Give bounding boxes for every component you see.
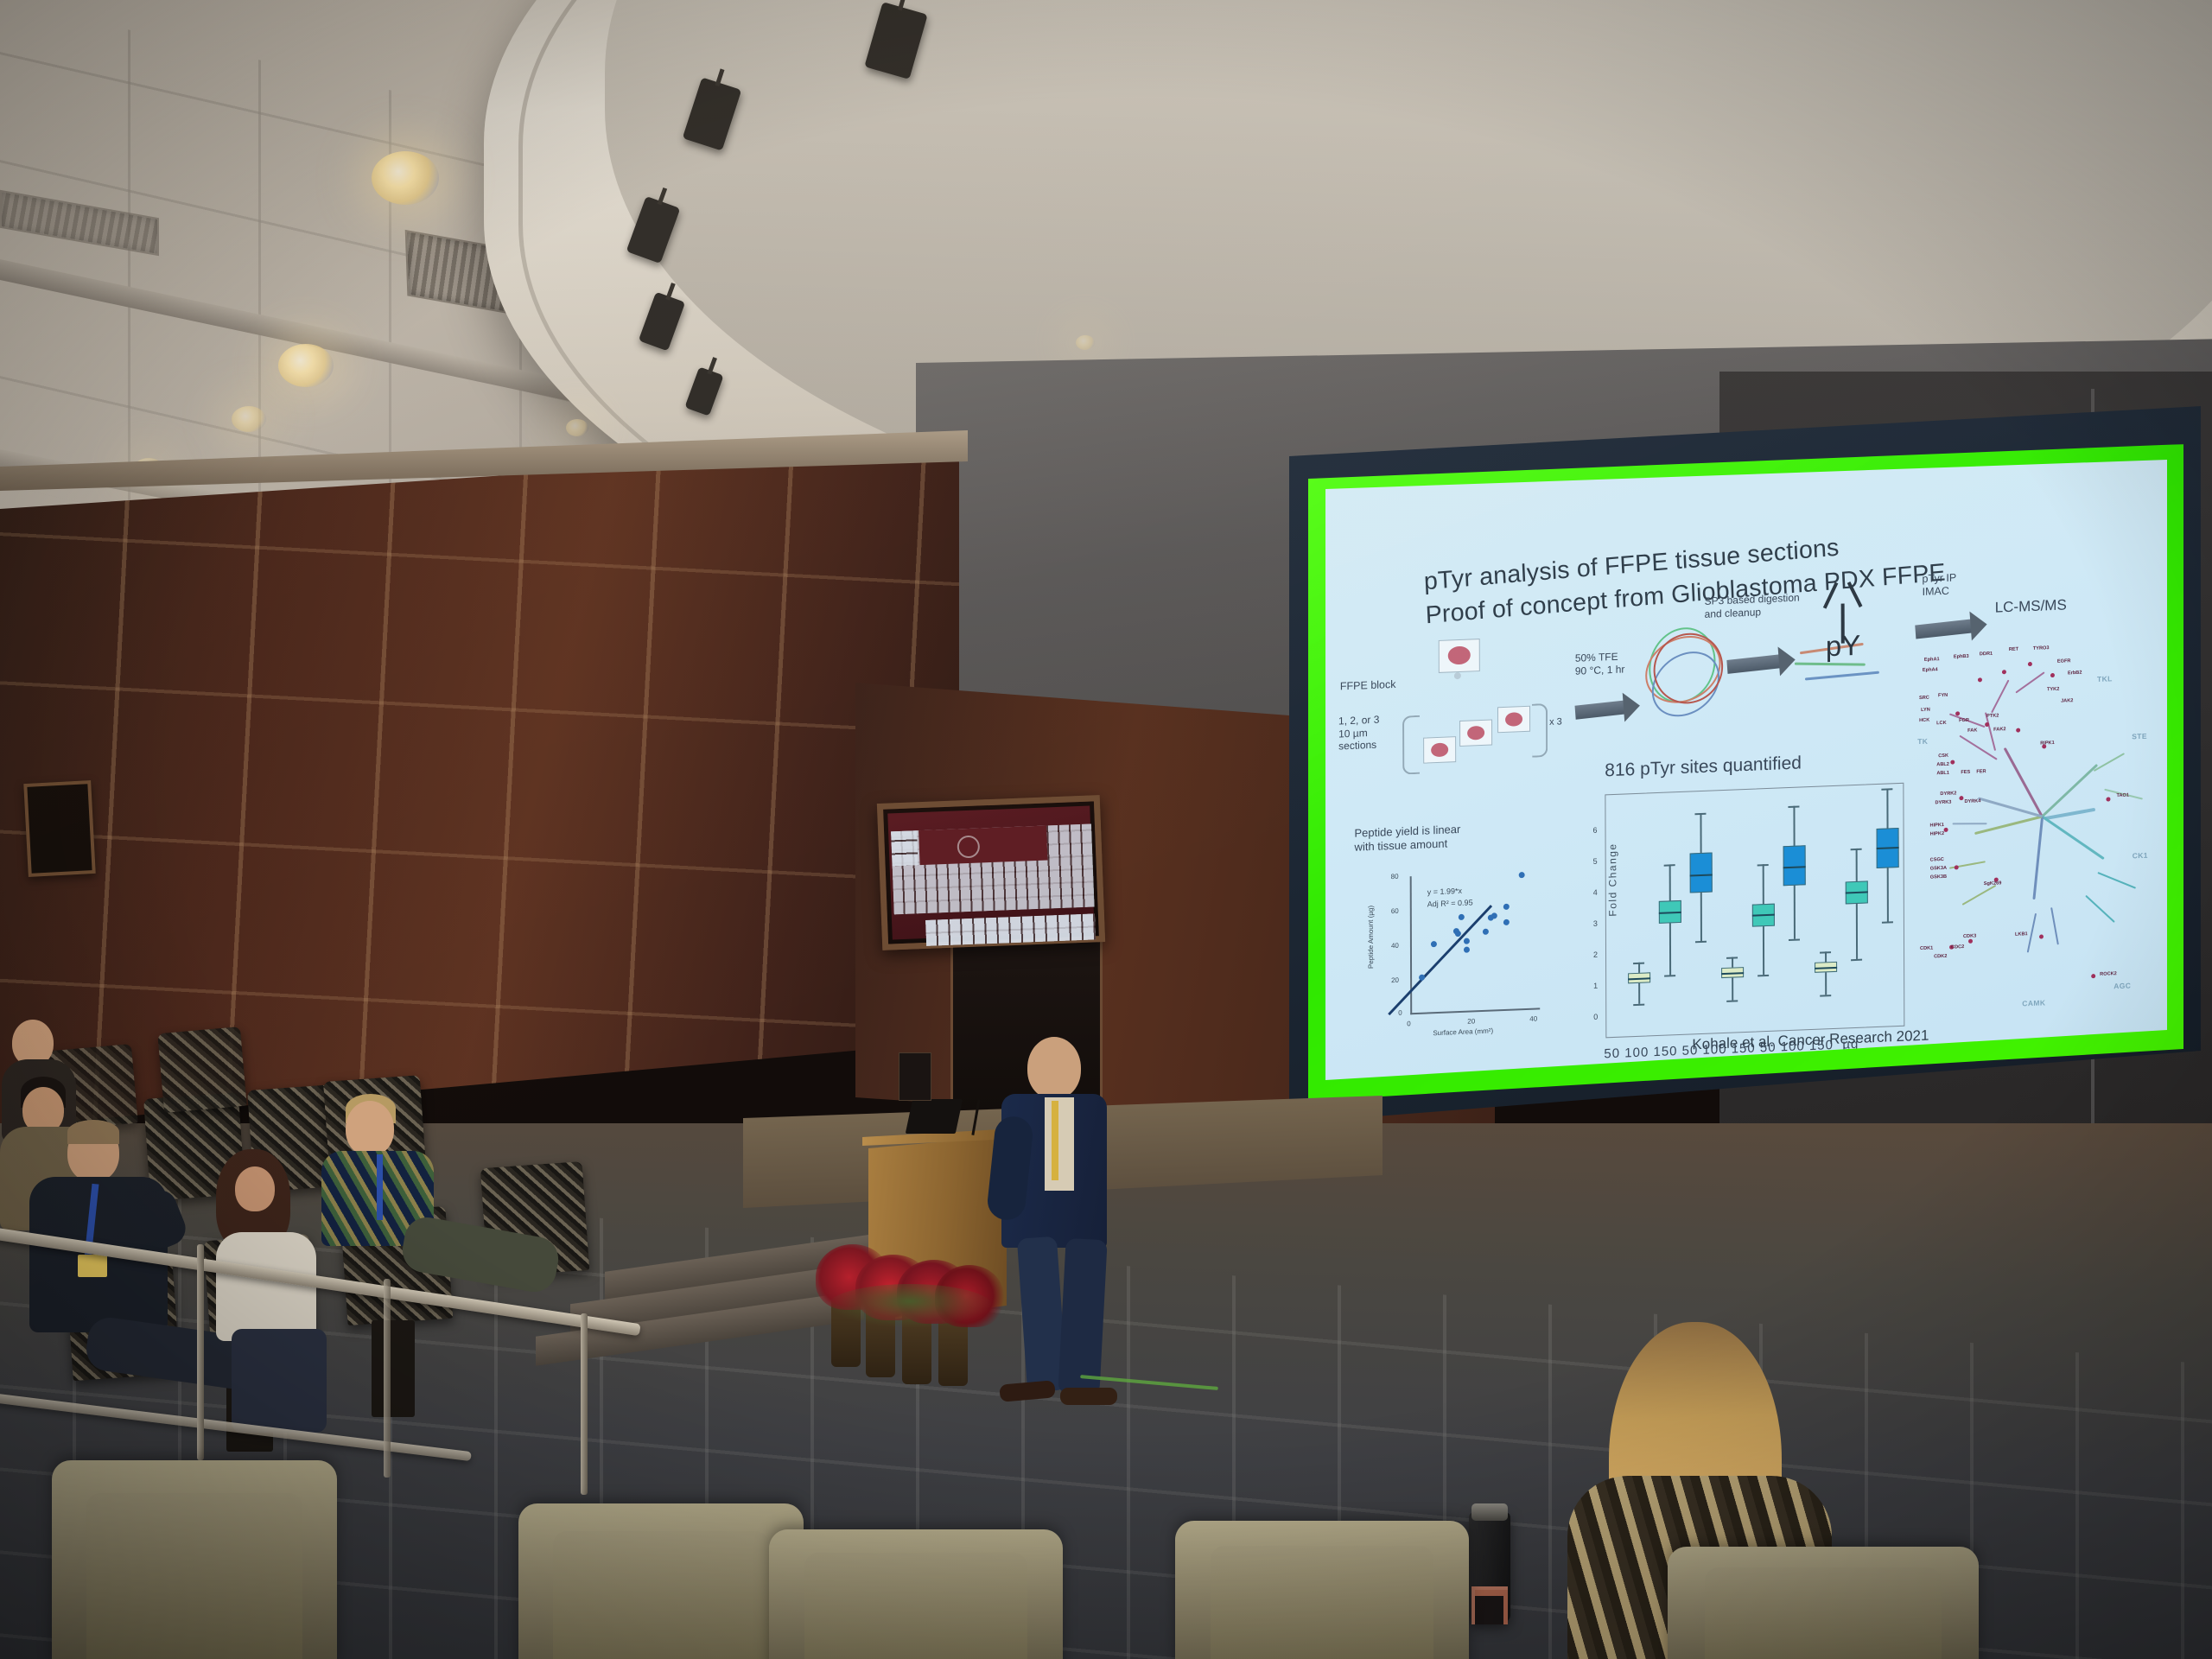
leg	[232, 1329, 327, 1433]
tissue-section-icon-2	[1459, 719, 1492, 746]
kinome-label: DYRK3	[1935, 800, 1951, 806]
foreground-chair[interactable]	[1175, 1521, 1469, 1659]
kinome-label: EphB3	[1954, 654, 1969, 660]
kinome-label: EphA1	[1924, 657, 1940, 663]
scatter-xtick-0: 0	[1407, 1020, 1410, 1027]
scatter-point	[1419, 975, 1425, 981]
boxplot-ytick-4: 4	[1593, 888, 1598, 897]
kinome-group-label-TK: TK	[1917, 737, 1928, 746]
scatter-point	[1464, 947, 1470, 953]
foreground-chair[interactable]	[52, 1460, 337, 1659]
scatter-point	[1483, 929, 1489, 935]
kinome-subbranch	[2097, 872, 2136, 889]
kinome-label: RET	[2009, 647, 2018, 652]
kinome-subbranch	[1991, 680, 2010, 714]
kinome-label: CDK1	[1920, 945, 1933, 951]
kinome-tree-figure: EphA1 EphA4 EphB3 DDR1 RET TYRO3 EGFR Er…	[1912, 622, 2173, 1013]
workflow-multiplier-label: x 3	[1549, 716, 1562, 728]
kinome-label: FYN	[1938, 693, 1948, 698]
boxplot-whisker	[1825, 951, 1827, 995]
scatter-caption: Peptide yield is linear with tissue amou…	[1354, 823, 1460, 855]
periodic-table-lanthanide-block	[925, 913, 1096, 946]
projection-screen: pTyr analysis of FFPE tissue sections Pr…	[1272, 406, 2212, 1123]
scatter-point	[1431, 941, 1437, 947]
kinome-group-label-AGC: AGC	[2113, 981, 2131, 990]
foreground-chair-inner	[804, 1553, 1027, 1659]
workflow-arrow-1-icon	[1575, 700, 1626, 719]
kinome-node	[1950, 760, 1955, 764]
boxplot-heading: 816 pTyr sites quantified	[1605, 752, 1802, 782]
scatter-point	[1491, 912, 1497, 918]
wall-artwork-frame	[23, 780, 96, 877]
kinome-branch	[2032, 817, 2044, 899]
scatter-x-axis	[1410, 1007, 1540, 1014]
kinome-label: ROCK2	[2100, 971, 2117, 977]
scatter-fit-line	[1388, 905, 1492, 1015]
kinome-subbranch	[2085, 895, 2115, 923]
kinome-label: GSK3B	[1930, 874, 1947, 880]
workflow-lcmsms-label: LC-MS/MS	[1995, 596, 2067, 617]
workflow-arrow-2-icon	[1726, 654, 1781, 674]
presenter-shirt	[1045, 1097, 1074, 1191]
kinome-node	[2039, 934, 2044, 938]
kinome-label: EphA4	[1923, 667, 1938, 673]
workflow-ip-imac-label: pTyr IP IMAC	[1923, 571, 1957, 599]
scatter-r2-annotation: Adj R² = 0.95	[1427, 898, 1473, 908]
recessed-downlight-1	[372, 151, 439, 205]
scatter-ylabel: Peptide Amount (µg)	[1367, 906, 1375, 969]
head	[235, 1166, 275, 1211]
scatter-point	[1503, 919, 1510, 925]
kinome-label: FAK	[1967, 728, 1977, 733]
recessed-downlight-5	[566, 419, 588, 436]
scatter-xtick-40: 40	[1529, 1014, 1537, 1022]
peptide-yield-scatter-chart: 80 60 40 20 0 0 20 40 Peptide Amount (µg…	[1377, 864, 1558, 1042]
kinome-group-label-CAMK: CAMK	[2022, 998, 2045, 1007]
presenter-leg-right	[1058, 1238, 1107, 1395]
periodic-table-display	[877, 795, 1105, 950]
workflow-sections-label: 1, 2, or 3 10 µm sections	[1338, 714, 1380, 753]
slide-surface: pTyr analysis of FFPE tissue sections Pr…	[1310, 456, 2174, 1084]
kinome-branch	[1974, 816, 2043, 836]
ffpe-block-slide-icon	[1439, 639, 1480, 673]
kinome-node	[1968, 939, 1973, 944]
hair	[67, 1120, 119, 1144]
kinome-node	[2002, 670, 2006, 674]
boxplot-box	[1690, 852, 1713, 893]
handrail-post	[384, 1279, 391, 1478]
scatter-point	[1464, 938, 1470, 944]
kinome-label: CSGC	[1930, 857, 1944, 863]
kinome-node	[2028, 662, 2032, 666]
tissue-section-icon-1	[1423, 736, 1456, 763]
ffpe-block-stand	[1454, 672, 1461, 679]
kinome-label: CSK	[1938, 753, 1948, 759]
foreground-chair-inner	[1211, 1546, 1433, 1659]
kinome-label: EGFR	[2057, 658, 2071, 664]
wood-panel-grid	[0, 445, 959, 1128]
kinome-node	[2016, 728, 2020, 732]
kinome-node	[2050, 673, 2055, 677]
kinome-node	[1978, 677, 1982, 682]
section-brace-right-icon	[1532, 703, 1548, 758]
foreground-chair-inner	[1705, 1567, 1942, 1659]
badge	[78, 1255, 107, 1277]
boxplot-ytick-1: 1	[1593, 982, 1598, 990]
scatter-y-axis	[1410, 876, 1412, 1014]
poinsettia-foliage	[828, 1284, 992, 1327]
kinome-label: TAO1	[2116, 793, 2129, 799]
scatter-ytick-0: 0	[1398, 1009, 1402, 1017]
torso	[216, 1232, 316, 1341]
boxplot-ytick-2: 2	[1593, 950, 1598, 959]
presenter-head	[1027, 1037, 1081, 1099]
kinome-label: LKB1	[2015, 931, 2028, 938]
left-wood-wall	[0, 445, 959, 1128]
kinome-label: ABL1	[1936, 771, 1949, 777]
kinome-node	[2091, 974, 2095, 978]
kinome-node	[1959, 796, 1963, 800]
foreground-chair-inner	[553, 1531, 770, 1659]
kinome-label: CDC2	[1951, 944, 1964, 950]
scatter-ytick-40: 40	[1391, 942, 1399, 950]
kinome-label: HIPK2	[1930, 831, 1945, 837]
kinome-label: LCK	[1936, 721, 1947, 726]
kinome-label: LYN	[1921, 708, 1930, 713]
tissue-section-icon-3	[1497, 706, 1530, 733]
slide-content-plane: pTyr analysis of FFPE tissue sections Pr…	[1327, 456, 2164, 1071]
workflow-sp3-label: SP3 based digestion and cleanup	[1705, 592, 1800, 621]
section-brace-icon	[1402, 715, 1420, 775]
seat-pedestal	[372, 1320, 415, 1417]
recessed-downlight-2	[278, 344, 334, 387]
recessed-downlight-3	[232, 406, 266, 432]
kinome-subbranch	[2094, 753, 2125, 772]
podium-sign	[899, 1052, 931, 1101]
kinome-label: FGR	[1959, 718, 1969, 723]
scatter-point	[1459, 914, 1465, 920]
kinome-label: HIPK1	[1930, 823, 1945, 829]
foreground-chair[interactable]	[518, 1503, 804, 1659]
kinome-label: SgK269	[1984, 880, 2002, 887]
handrail-post	[581, 1313, 588, 1495]
kinome-node	[1955, 865, 1959, 869]
lanyard	[377, 1154, 383, 1220]
kinome-subbranch	[2015, 671, 2044, 693]
handrail-post	[197, 1244, 204, 1460]
kinome-label: DYRK4	[1964, 798, 1980, 804]
kinome-subbranch	[1953, 823, 1987, 824]
kinome-label: HCK	[1919, 718, 1929, 723]
scatter-ytick-20: 20	[1391, 976, 1399, 984]
kinome-node	[2106, 797, 2110, 801]
kinome-label: RIPK1	[2040, 741, 2055, 747]
foreground-chair-inner	[86, 1493, 303, 1659]
kinome-label: SRC	[1919, 696, 1929, 701]
boxplot-ytick-3: 3	[1593, 919, 1598, 928]
presenter-shoe-right	[1060, 1388, 1117, 1405]
kinome-label: PTK2	[1986, 713, 1999, 719]
kinome-label: FER	[1976, 769, 1986, 774]
kinome-branch	[2042, 816, 2105, 861]
kinome-label: DDR1	[1980, 652, 1993, 658]
kinome-subbranch	[1961, 885, 1996, 906]
kinome-subbranch	[2026, 913, 2037, 953]
periodic-table-left-column	[891, 830, 918, 866]
lecture-hall-photo: pTyr analysis of FFPE tissue sections Pr…	[0, 0, 2212, 1659]
head	[346, 1101, 394, 1156]
scatter-ytick-80: 80	[1391, 873, 1399, 880]
auditorium-seat[interactable]	[157, 1027, 247, 1113]
periodic-table-gap	[918, 826, 1047, 866]
kinome-node	[1955, 711, 1960, 715]
water-bottle-cap	[1471, 1503, 1508, 1521]
peptide-strand-3	[1805, 671, 1879, 680]
kinome-label: JAK2	[2061, 698, 2073, 704]
scatter-point	[1503, 904, 1510, 910]
workflow-ffpe-block-label: FFPE block	[1340, 678, 1396, 694]
kinome-subbranch	[2050, 907, 2059, 945]
kinome-label: CDK2	[1934, 954, 1947, 960]
scatter-point	[1519, 872, 1525, 878]
kinome-label: ABL2	[1936, 762, 1949, 768]
kinome-label: FAK2	[1993, 727, 2005, 733]
pY-label: pY	[1826, 629, 1861, 664]
scatter-equation-annotation: y = 1.99*x	[1427, 887, 1462, 897]
kinome-label: CDK3	[1963, 933, 1976, 939]
boxplot-ylabel: Fold Change	[1606, 842, 1618, 917]
scatter-xtick-20: 20	[1467, 1017, 1475, 1025]
kinome-label: DYRK2	[1940, 791, 1956, 797]
kinome-trunk	[2044, 808, 2095, 821]
kinome-group-label-TKL: TKL	[2097, 674, 2113, 683]
water-bottle-sticker	[1471, 1586, 1508, 1624]
kinome-label: TYK2	[2047, 687, 2059, 693]
scatter-xlabel: Surface Area (mm²)	[1433, 1027, 1493, 1037]
kinome-label: ErbB2	[2068, 671, 2082, 677]
boxplot-whisker	[1732, 957, 1733, 1001]
boxplot-ytick-5: 5	[1593, 857, 1598, 866]
presenter-lanyard	[1052, 1101, 1058, 1180]
kinome-group-label-CK1: CK1	[2133, 851, 2148, 861]
kinome-label: TYRO3	[2033, 645, 2050, 652]
kinome-label: FES	[1961, 770, 1970, 775]
foreground-chair[interactable]	[769, 1529, 1063, 1659]
kinome-label: GSK3A	[1930, 866, 1947, 872]
boxplot-ytick-0: 0	[1593, 1013, 1598, 1021]
podium-laptop	[906, 1099, 963, 1134]
kinome-node	[1944, 828, 1948, 832]
recessed-downlight-7	[1076, 335, 1095, 350]
kinome-group-label-STE: STE	[2132, 732, 2147, 741]
workflow-tfe-label: 50% TFE 90 °C, 1 hr	[1575, 650, 1625, 677]
scatter-ytick-60: 60	[1391, 907, 1399, 915]
foreground-chair[interactable]	[1668, 1547, 1979, 1659]
fold-change-boxplot-chart: Fold Change 6 5 4 3 2 1 0	[1605, 783, 1904, 1039]
boxplot-ytick-6: 6	[1592, 826, 1597, 835]
